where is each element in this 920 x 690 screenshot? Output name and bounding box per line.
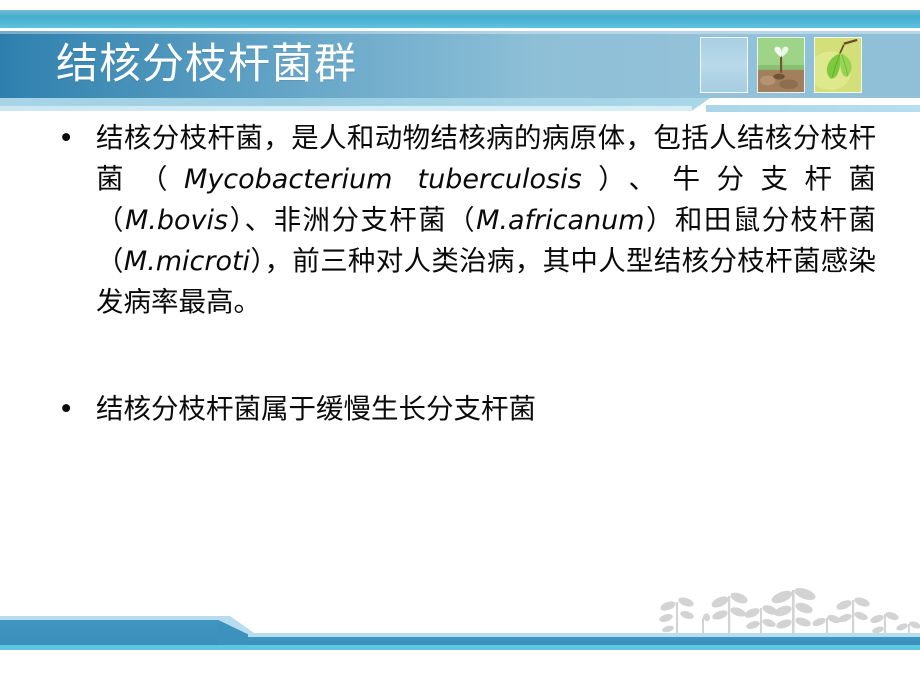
scientific-name: M.microti (124, 246, 250, 277)
thumbnail-seedling (757, 37, 805, 93)
thumbnail-leaves (814, 37, 862, 93)
header-step-left-lower (0, 106, 692, 111)
footer-bar-left-body (0, 620, 230, 645)
page-title: 结核分枝杆菌群 (56, 34, 676, 94)
seedling-icon (758, 38, 804, 92)
scientific-name: M.africanum (476, 205, 644, 236)
bullet-item-2: • 结核分枝杆菌属于缓慢生长分支杆菌 (44, 389, 876, 430)
footer-bar-right (248, 633, 920, 650)
header-thumbnail-strip (700, 37, 900, 93)
footer-bar-right-body (248, 637, 920, 645)
thumbnail-placeholder (700, 37, 748, 93)
footer-bar-left (0, 616, 230, 650)
bullet-text-2: 结核分枝杆菌属于缓慢生长分支杆菌 (96, 389, 876, 430)
bullet-marker-2: • (58, 389, 74, 430)
text-run: 结核分枝杆菌属于缓慢生长分支杆菌 (96, 393, 536, 425)
bullet-list: • 结核分枝杆菌，是人和动物结核病的病原体，包括人结核分枝杆菌（Mycobact… (0, 118, 920, 430)
slide-canvas: 结核分枝杆菌群 (0, 0, 920, 690)
scientific-name: Mycobacterium tuberculosis (184, 164, 582, 195)
bullet-spacer (0, 323, 920, 389)
header-step-right (706, 105, 920, 112)
footer-bar-right-foot (248, 645, 920, 650)
text-run: ）、非洲分支杆菌（ (228, 204, 476, 236)
slide-body: • 结核分枝杆菌，是人和动物结核病的病原体，包括人结核分枝杆菌（Mycobact… (0, 118, 920, 578)
bullet-text-1: 结核分枝杆菌，是人和动物结核病的病原体，包括人结核分枝杆菌（Mycobacter… (96, 118, 876, 323)
scientific-name: M.bovis (125, 205, 228, 236)
footer-bar-left-foot (0, 645, 230, 650)
bullet-item-1: • 结核分枝杆菌，是人和动物结核病的病原体，包括人结核分枝杆菌（Mycobact… (44, 118, 876, 323)
leaves-icon (815, 38, 861, 92)
bullet-marker-1: • (58, 118, 74, 159)
top-accent-bar-sheen (0, 10, 920, 17)
header-step-left (0, 98, 700, 106)
